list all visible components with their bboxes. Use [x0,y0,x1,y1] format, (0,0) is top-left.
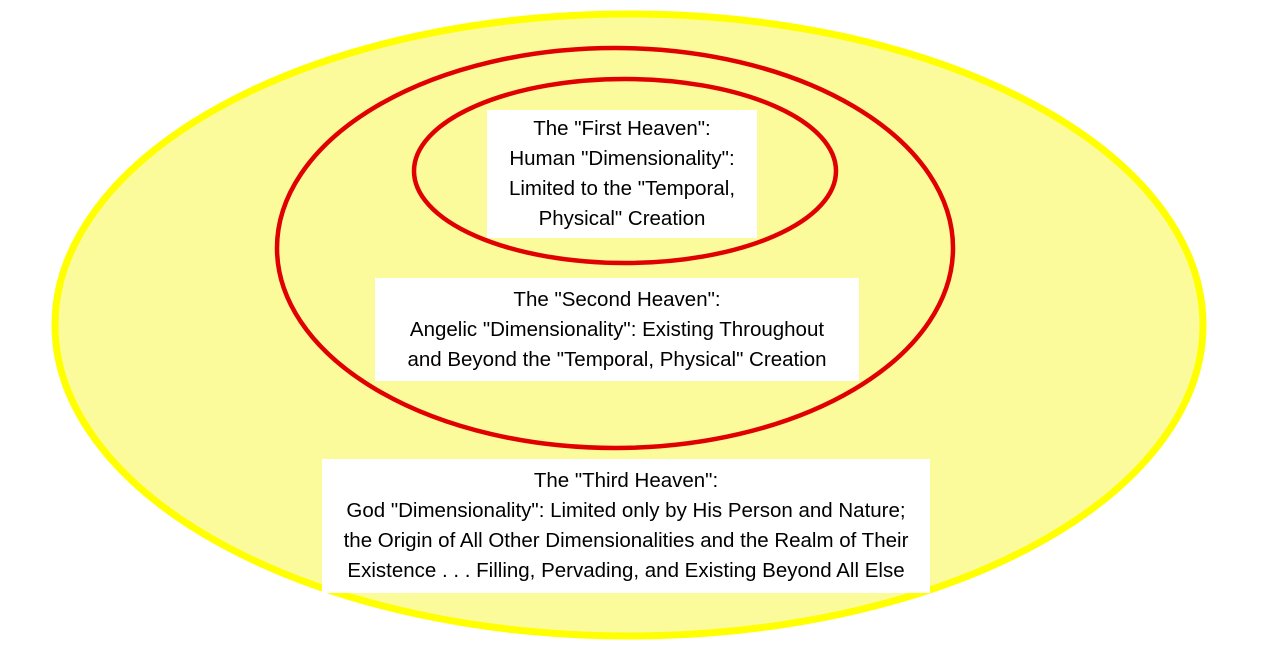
third-heaven-line-3: the Origin of All Other Dimensionalities… [344,526,909,556]
first-heaven-line-3: Limited to the "Temporal, [509,174,735,204]
third-heaven-line-2: God "Dimensionality": Limited only by Hi… [346,496,905,526]
second-heaven-line-2: Angelic "Dimensionality": Existing Throu… [410,315,824,345]
three-heavens-diagram: The "First Heaven": Human "Dimensionalit… [0,0,1280,661]
first-heaven-line-2: Human "Dimensionality": [509,144,734,174]
third-heaven-label-box: The "Third Heaven": God "Dimensionality"… [322,459,930,593]
first-heaven-line-1: The "First Heaven": [533,114,710,144]
third-heaven-line-4: Existence . . . Filling, Pervading, and … [347,556,904,586]
second-heaven-line-1: The "Second Heaven": [513,285,720,315]
first-heaven-line-4: Physical" Creation [539,204,706,234]
second-heaven-line-3: and Beyond the "Temporal, Physical" Crea… [407,345,826,375]
second-heaven-label-box: The "Second Heaven": Angelic "Dimensiona… [375,278,859,381]
third-heaven-line-1: The "Third Heaven": [534,466,718,496]
first-heaven-label-box: The "First Heaven": Human "Dimensionalit… [487,110,757,238]
